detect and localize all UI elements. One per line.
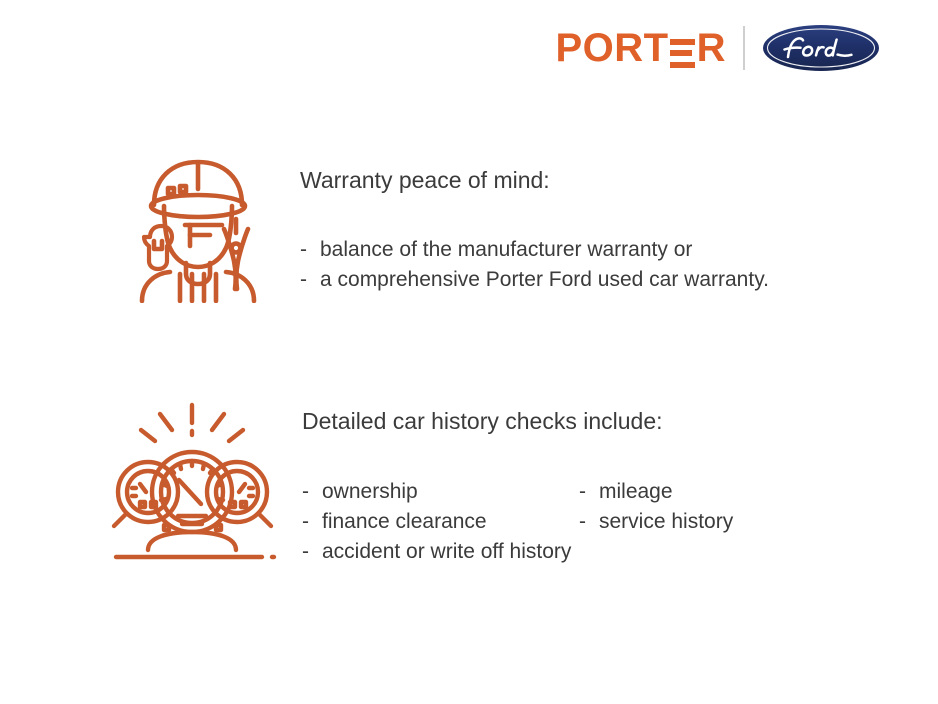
bullet-label: service history xyxy=(599,507,733,537)
porter-wordmark-part-2: R xyxy=(697,28,726,68)
list-item: - a comprehensive Porter Ford used car w… xyxy=(300,265,769,295)
slide-canvas: PORT R xyxy=(0,0,938,704)
bullet-label: balance of the manufacturer warranty or xyxy=(320,235,692,265)
bullet-label: finance clearance xyxy=(322,507,487,537)
bullet-dash: - xyxy=(579,477,599,507)
list-item: - ownership xyxy=(302,477,579,507)
warranty-text-block: Warranty peace of mind: - balance of the… xyxy=(300,143,769,295)
bullet-dash: - xyxy=(300,235,320,265)
bullet-label: mileage xyxy=(599,477,673,507)
list-item: - balance of the manufacturer warranty o… xyxy=(300,235,769,265)
bullet-label: ownership xyxy=(322,477,418,507)
bullet-dash: - xyxy=(579,507,599,537)
bullet-dash: - xyxy=(302,537,322,567)
list-item: - accident or write off history xyxy=(302,537,733,567)
bullet-label: a comprehensive Porter Ford used car war… xyxy=(320,265,769,295)
mechanic-icon xyxy=(118,143,278,303)
ford-logo xyxy=(762,24,880,72)
bullet-dash: - xyxy=(302,477,322,507)
warranty-bullet-list: - balance of the manufacturer warranty o… xyxy=(300,235,769,295)
list-item: - finance clearance xyxy=(302,507,579,537)
brand-lockup: PORT R xyxy=(555,24,880,72)
list-item: - service history xyxy=(579,507,733,537)
gauge-cluster-icon xyxy=(100,392,285,567)
bullet-dash: - xyxy=(300,265,320,295)
history-text-block: Detailed car history checks include: - o… xyxy=(302,392,733,567)
porter-wordmark-part-1: PORT xyxy=(555,28,668,68)
brand-divider xyxy=(743,26,745,70)
gauge-cluster-icon-wrapper xyxy=(100,392,285,567)
section-warranty: Warranty peace of mind: - balance of the… xyxy=(118,143,769,303)
bullet-label: accident or write off history xyxy=(322,537,571,567)
section-history-checks: Detailed car history checks include: - o… xyxy=(100,392,733,567)
porter-logo: PORT R xyxy=(555,28,726,68)
ford-oval-icon xyxy=(762,24,880,72)
porter-letter-e-bars xyxy=(670,39,695,68)
mechanic-icon-wrapper xyxy=(118,143,278,303)
warranty-heading: Warranty peace of mind: xyxy=(300,167,769,195)
bullet-dash: - xyxy=(302,507,322,537)
history-heading: Detailed car history checks include: xyxy=(302,408,733,436)
history-bullet-grid: - ownership - mileage - finance clearanc… xyxy=(302,477,733,567)
list-item: - mileage xyxy=(579,477,733,507)
